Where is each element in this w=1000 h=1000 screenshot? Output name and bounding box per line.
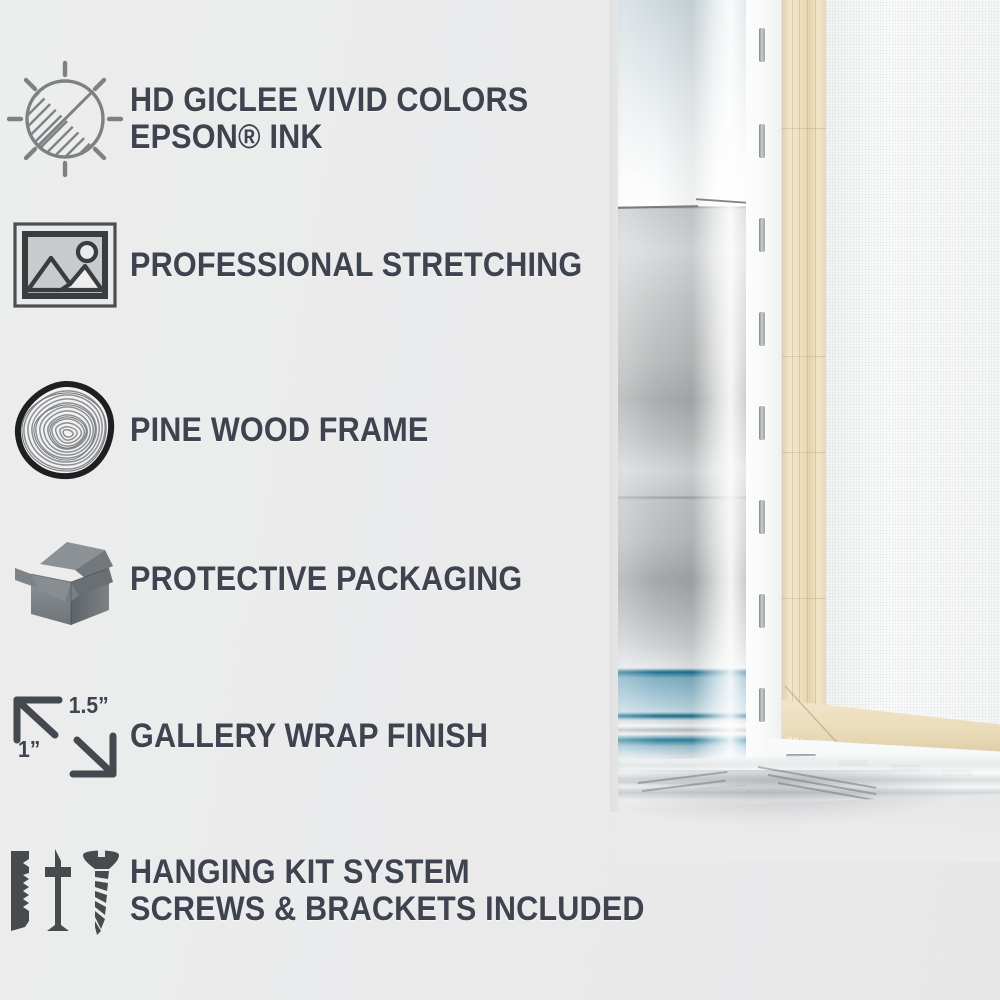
product-feature-infographic: HD GICLEE VIVID COLORS EPSON® INK PROFES… xyxy=(0,0,1000,1000)
hardware-icon-wrap xyxy=(0,845,130,937)
feature-row-wrap: 1.5” 1” GALLERY WRAP FINISH xyxy=(0,690,528,782)
wood-grain-line xyxy=(782,128,826,129)
feature-label-giclee-line2: EPSON® INK xyxy=(130,119,528,156)
wood-ring-icon-wrap xyxy=(0,380,130,480)
feature-row-hanging: HANGING KIT SYSTEM SCREWS & BRACKETS INC… xyxy=(0,845,702,937)
feature-label-wrap: GALLERY WRAP FINISH xyxy=(130,718,488,755)
open-box-icon-wrap xyxy=(0,530,130,628)
wood-ring-icon-svg xyxy=(13,380,117,480)
hardware-icon-svg xyxy=(5,845,125,937)
feature-row-stretching: PROFESSIONAL STRETCHING xyxy=(0,222,633,308)
staple xyxy=(759,218,765,252)
sun-print-icon xyxy=(6,60,124,178)
feature-label-pine: PINE WOOD FRAME xyxy=(130,412,429,449)
sun-print-icon-svg xyxy=(6,60,124,178)
canvas-back-weave xyxy=(826,0,1000,744)
feature-label-hanging-line2: SCREWS & BRACKETS INCLUDED xyxy=(130,891,645,928)
diagonal-arrows-icon-wrap: 1.5” 1” xyxy=(0,690,130,782)
dimension-thickness-label: 1” xyxy=(18,736,40,763)
wood-grain-line xyxy=(782,356,826,357)
pine-wood-frame-edge xyxy=(782,0,826,740)
stretched-canvas-corner-photo xyxy=(618,0,1000,812)
feature-label-giclee: HD GICLEE VIVID COLORS EPSON® INK xyxy=(130,82,528,155)
open-box-icon-svg xyxy=(9,530,121,628)
feature-label-hanging-line1: HANGING KIT SYSTEM xyxy=(130,853,470,891)
wood-grain-line xyxy=(782,598,826,599)
diagonal-arrows-icon: 1.5” 1” xyxy=(7,690,123,782)
wood-grain-line xyxy=(782,452,826,453)
dimension-depth-label: 1.5” xyxy=(69,692,109,719)
staple xyxy=(759,312,765,346)
feature-label-stretching: PROFESSIONAL STRETCHING xyxy=(130,247,582,284)
wood-grain-line xyxy=(799,0,800,740)
wood-grain-line xyxy=(807,0,808,740)
feature-list: HD GICLEE VIVID COLORS EPSON® INK PROFES… xyxy=(0,0,620,1000)
framed-picture-icon-wrap xyxy=(0,222,130,308)
staple xyxy=(759,124,765,158)
wood-grain-line xyxy=(792,0,793,740)
wood-grain-line xyxy=(815,0,816,740)
canvas-bottom-fade xyxy=(618,742,1000,862)
sun-print-icon-wrap xyxy=(0,60,130,178)
staple xyxy=(759,688,765,722)
feature-label-packaging: PROTECTIVE PACKAGING xyxy=(130,561,522,598)
feature-row-packaging: PROTECTIVE PACKAGING xyxy=(0,530,566,628)
photo-background-seam xyxy=(610,0,624,812)
wood-ring-icon xyxy=(13,380,117,480)
staple xyxy=(759,594,765,628)
framed-picture-icon-svg xyxy=(13,222,117,308)
framed-picture-icon xyxy=(13,222,117,308)
open-box-icon xyxy=(9,530,121,628)
feature-label-hanging: HANGING KIT SYSTEM SCREWS & BRACKETS INC… xyxy=(130,854,645,927)
staple xyxy=(759,28,765,62)
feature-row-pine: PINE WOOD FRAME xyxy=(0,380,462,480)
canvas-wrap-white-edge xyxy=(746,0,782,790)
feature-row-giclee: HD GICLEE VIVID COLORS EPSON® INK xyxy=(0,60,573,178)
staple xyxy=(759,406,765,440)
staple xyxy=(759,500,765,534)
canvas-print-sheen xyxy=(618,0,746,800)
hardware-icon xyxy=(5,845,125,937)
feature-label-giclee-line1: HD GICLEE VIVID COLORS xyxy=(130,81,528,119)
